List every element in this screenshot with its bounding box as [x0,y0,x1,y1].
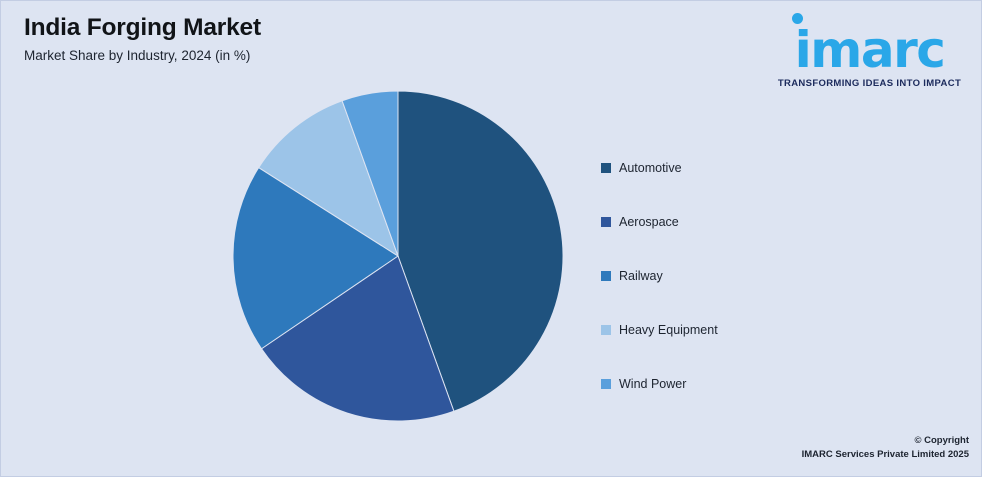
logo-dot-icon [792,13,803,24]
logo-tagline: TRANSFORMING IDEAS INTO IMPACT [767,78,972,89]
imarc-logo: imarc TRANSFORMING IDEAS INTO IMPACT [767,9,972,89]
legend-item[interactable]: Railway [601,249,901,303]
legend-item[interactable]: Heavy Equipment [601,303,901,357]
copyright-entity-line: IMARC Services Private Limited 2025 [802,448,969,462]
legend-swatch-icon [601,271,611,281]
chart-legend: AutomotiveAerospaceRailwayHeavy Equipmen… [601,141,901,411]
copyright-block: © Copyright IMARC Services Private Limit… [802,434,969,463]
pie-slice-group [233,91,563,421]
logo-wordmark: imarc [767,25,972,75]
legend-item-label: Wind Power [619,378,686,391]
pie-chart [233,91,563,421]
legend-item-label: Automotive [619,162,682,175]
pie-chart-svg [233,91,563,421]
copyright-symbol-line: © Copyright [802,434,969,448]
legend-item-label: Railway [619,270,663,283]
legend-item-label: Aerospace [619,216,679,229]
legend-item-label: Heavy Equipment [619,324,718,337]
legend-item[interactable]: Aerospace [601,195,901,249]
legend-swatch-icon [601,379,611,389]
legend-swatch-icon [601,217,611,227]
legend-item[interactable]: Automotive [601,141,901,195]
legend-swatch-icon [601,325,611,335]
title-block: India Forging Market Market Share by Ind… [24,14,584,64]
page-title: India Forging Market [24,14,584,42]
page-subtitle: Market Share by Industry, 2024 (in %) [24,48,584,64]
legend-swatch-icon [601,163,611,173]
infographic-canvas: India Forging Market Market Share by Ind… [0,0,982,477]
legend-item[interactable]: Wind Power [601,357,901,411]
